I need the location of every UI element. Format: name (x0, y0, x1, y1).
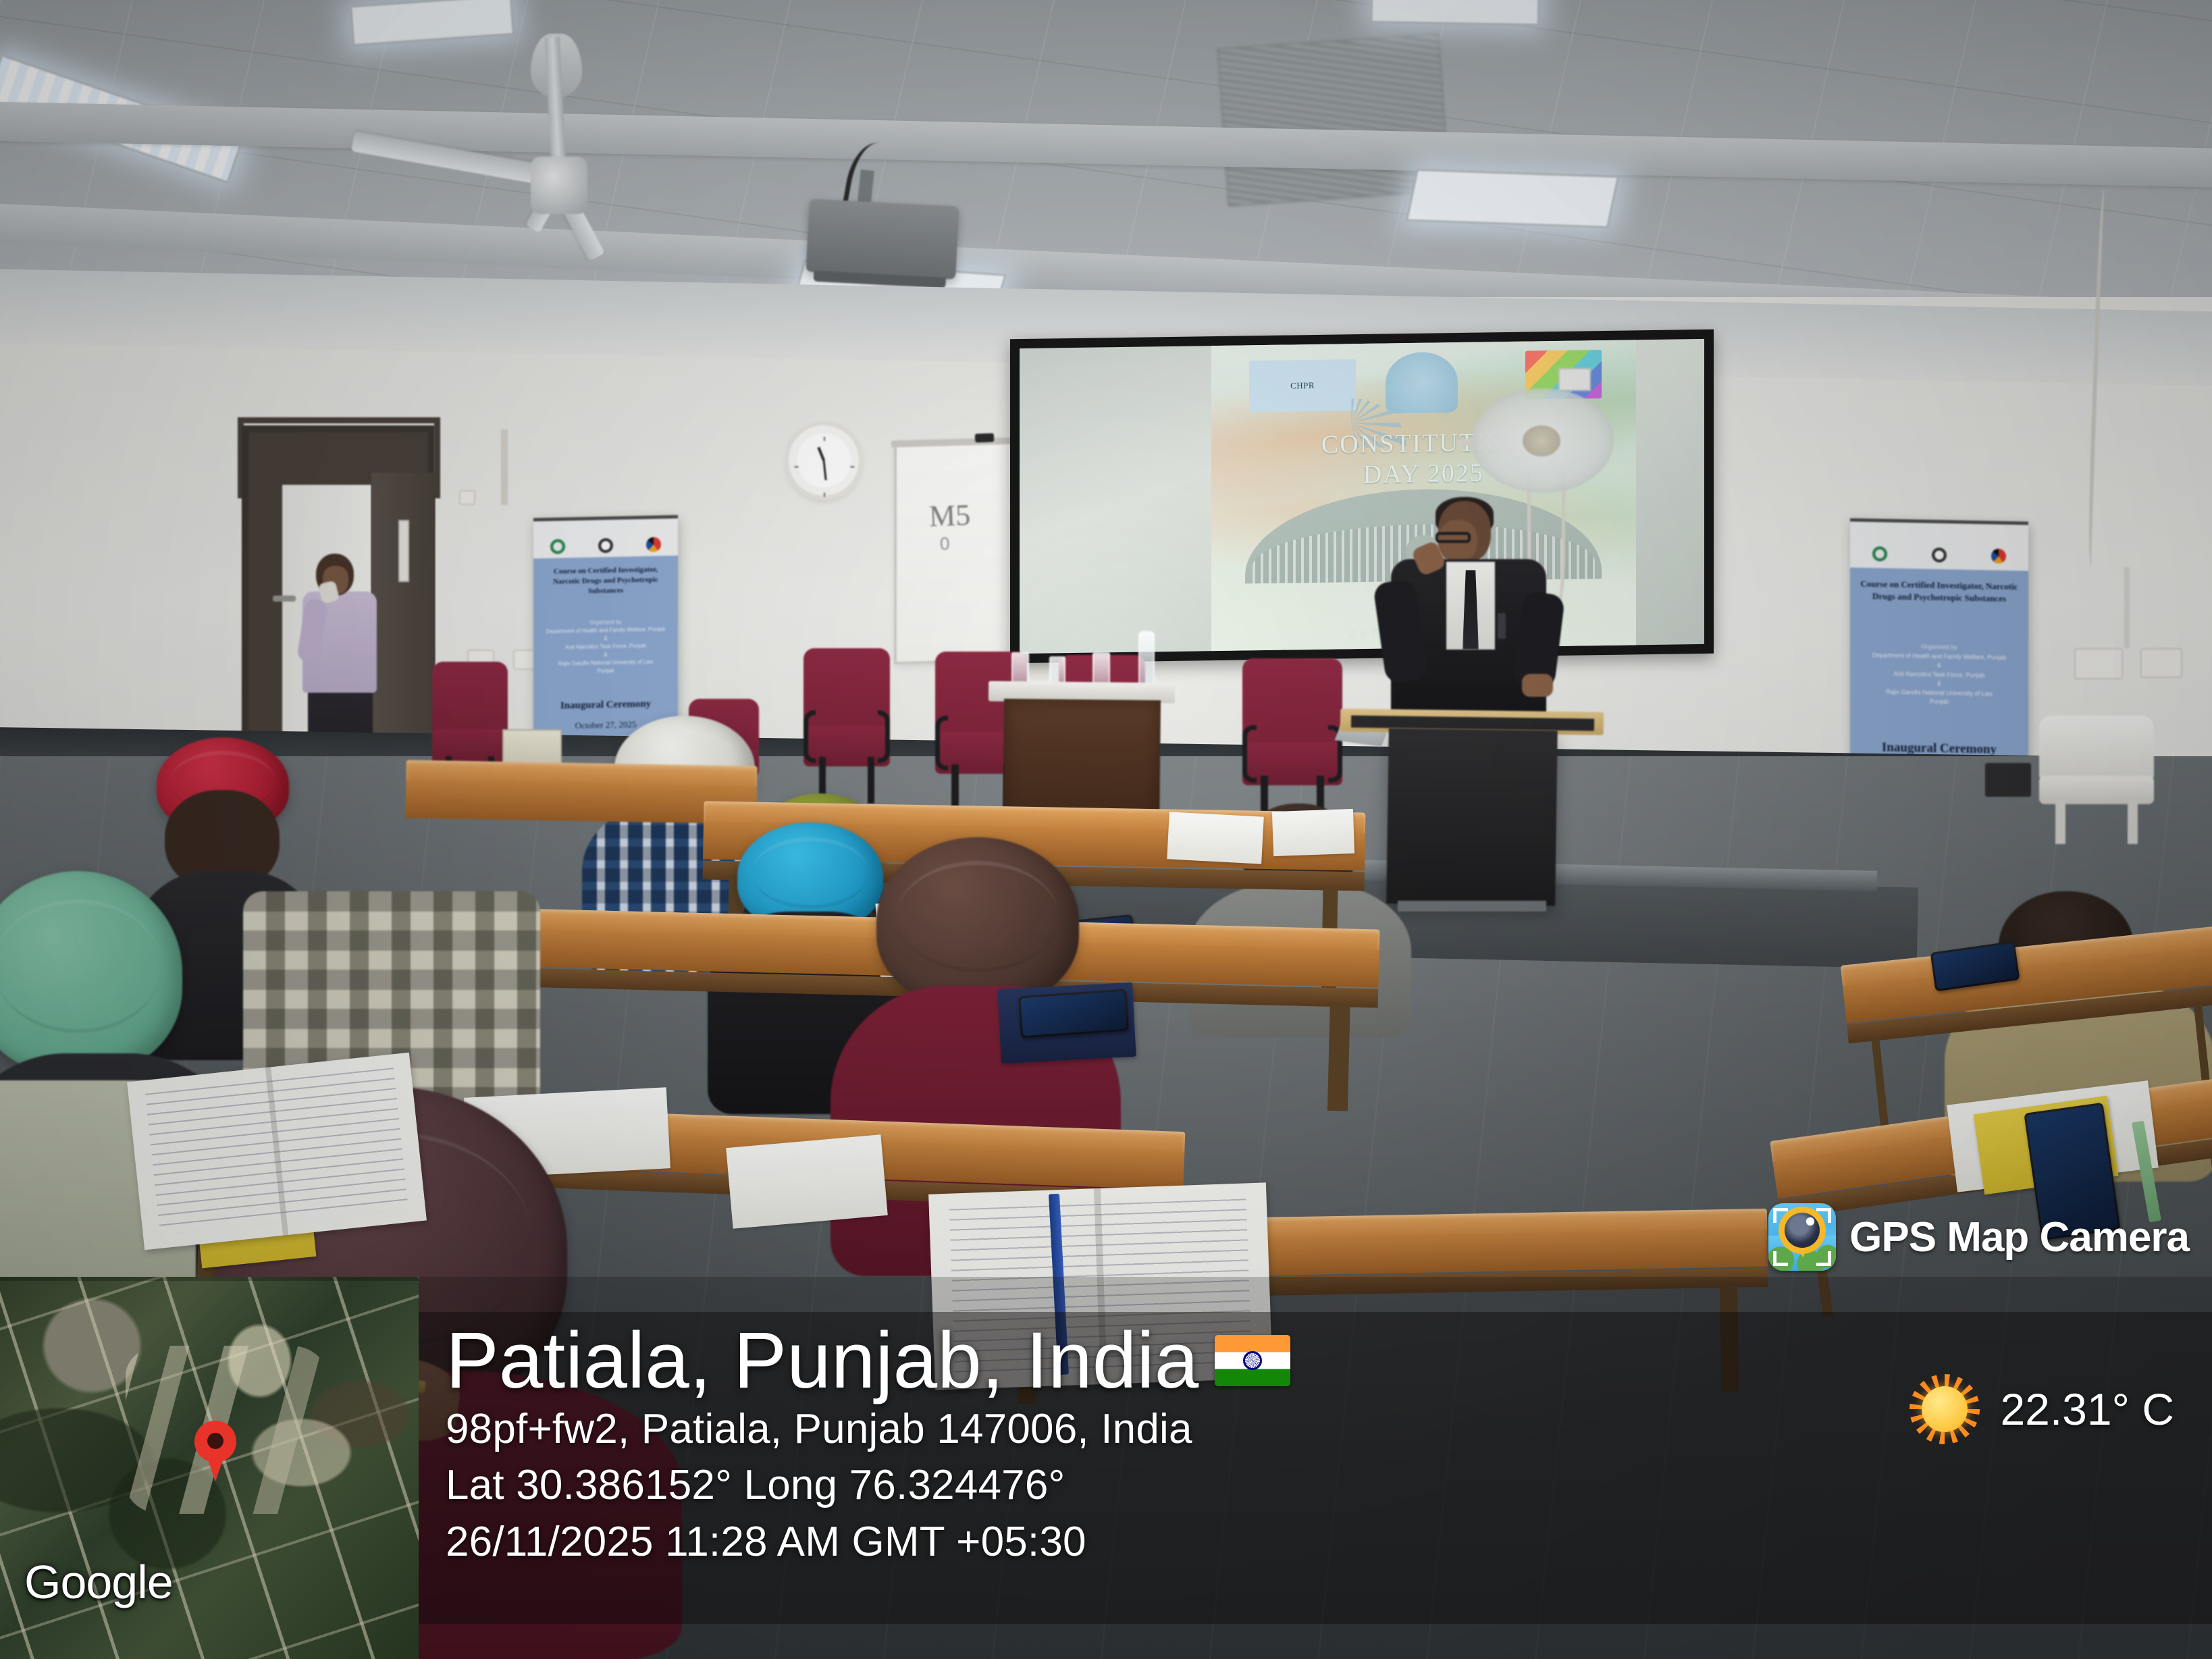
university-logo-icon (598, 538, 613, 553)
banner-left-ceremony: Inaugural Ceremony (541, 698, 671, 712)
viewfinder-corner (1773, 1208, 1788, 1223)
projector-icon (806, 199, 959, 279)
health-dept-logo-icon (1872, 546, 1887, 561)
wall-conduit (2124, 567, 2130, 648)
chair (1242, 658, 1342, 826)
city-line-row: Patiala, Punjab, India (446, 1320, 1915, 1401)
wall-socket (2074, 648, 2123, 679)
map-pin-icon (194, 1421, 236, 1481)
map-thumbnail[interactable]: Google (0, 1277, 419, 1659)
location-info-bar: Google Patiala, Punjab, India 98pf+fw2, … (0, 1277, 2212, 1659)
india-flag-icon (1215, 1335, 1290, 1386)
ceiling-fan-motor (531, 157, 587, 214)
wall-clock-icon (789, 425, 859, 496)
banner-logos (1850, 535, 2028, 574)
banner-left-title: Course on Certified Investigator, Narcot… (541, 564, 671, 598)
paper-sheet (726, 1134, 888, 1229)
paper-sheet (1167, 812, 1263, 864)
chair (804, 648, 890, 804)
antf-logo-icon (646, 537, 661, 552)
temperature-value: 22.31° C (2000, 1384, 2174, 1435)
health-dept-logo-icon (550, 539, 565, 554)
banner-right-orgs: Organised by Department of Health and Fa… (1859, 641, 2020, 708)
speaker-pocket-pen (1498, 613, 1506, 639)
timestamp-line: 26/11/2025 11:28 AM GMT +05:30 (446, 1514, 1915, 1570)
ceiling-light (1406, 169, 1619, 228)
university-logo-icon (1932, 548, 1947, 562)
clock-minute-hand (823, 460, 827, 481)
water-bottle (1138, 631, 1155, 689)
wall-socket (2140, 648, 2182, 678)
open-notebook (127, 1053, 427, 1250)
national-emblem-icon (1386, 352, 1458, 414)
camera-lens-icon (1785, 1213, 1820, 1248)
speaker-hand (1522, 674, 1553, 697)
screen-surface: CHPR CONSTITUTION DAY 2025 "Justice, Lib… (1020, 339, 1704, 654)
whiteboard-note-2: 0 (939, 533, 950, 554)
gps-map-camera-icon (1768, 1203, 1836, 1271)
banner-left-orgs: Organised by Department of Health and Fa… (541, 616, 671, 676)
sun-icon (1910, 1374, 1980, 1444)
wall-fan-bracket (1558, 368, 1591, 391)
av-equipment-box (1985, 763, 2031, 797)
wall-conduit (501, 429, 508, 505)
clock-face (797, 433, 851, 488)
viewfinder-corner (1773, 1251, 1788, 1266)
weather-widget: 22.31° C (1910, 1374, 2174, 1444)
viewfinder-corner (1816, 1208, 1831, 1223)
banner-logos (533, 529, 678, 561)
coordinates-line: Lat 30.386152° Long 76.324476° (446, 1457, 1915, 1513)
paper-sheet (1272, 809, 1354, 856)
wall-fan-hub (1523, 425, 1560, 456)
ceiling-light (1371, 0, 1540, 26)
wall-switch (459, 490, 475, 505)
smartphone-icon (1018, 989, 1129, 1038)
projection-screen: CHPR CONSTITUTION DAY 2025 "Justice, Lib… (1010, 330, 1714, 664)
marker-pen-icon (975, 433, 994, 443)
podium-base (1398, 901, 1546, 912)
map-top-edge (0, 1277, 419, 1281)
sun-core (1922, 1386, 1968, 1432)
screenshot-root: M5 0 CHPR CONSTITUTION DAY 2025 "Justice… (0, 0, 2212, 1659)
podium (1386, 728, 1558, 905)
plastic-chair (2039, 716, 2154, 844)
address-line: 98pf+fw2, Patiala, Punjab 147006, India (446, 1401, 1915, 1457)
gps-map-camera-label: GPS Map Camera (1849, 1213, 2189, 1261)
google-attribution: Google (24, 1555, 173, 1609)
info-bar-fade-top (419, 1277, 2212, 1312)
location-details: Patiala, Punjab, India 98pf+fw2, Patiala… (446, 1320, 1915, 1632)
door-vision-panel (398, 520, 409, 582)
gps-map-camera-watermark: GPS Map Camera (1768, 1203, 2189, 1271)
viewfinder-corner (1816, 1251, 1831, 1266)
door-slab (371, 473, 435, 743)
banner-right-title: Course on Certified Investigator, Narcot… (1859, 578, 2020, 605)
city-line: Patiala, Punjab, India (446, 1320, 1199, 1401)
whiteboard-note: M5 (928, 498, 971, 533)
clock-hour-hand (817, 447, 824, 461)
eyeglasses-icon (1436, 532, 1471, 543)
attendee-turban-brown (876, 837, 1079, 1006)
door-handle (273, 596, 296, 602)
antf-logo-icon (1991, 548, 2006, 563)
